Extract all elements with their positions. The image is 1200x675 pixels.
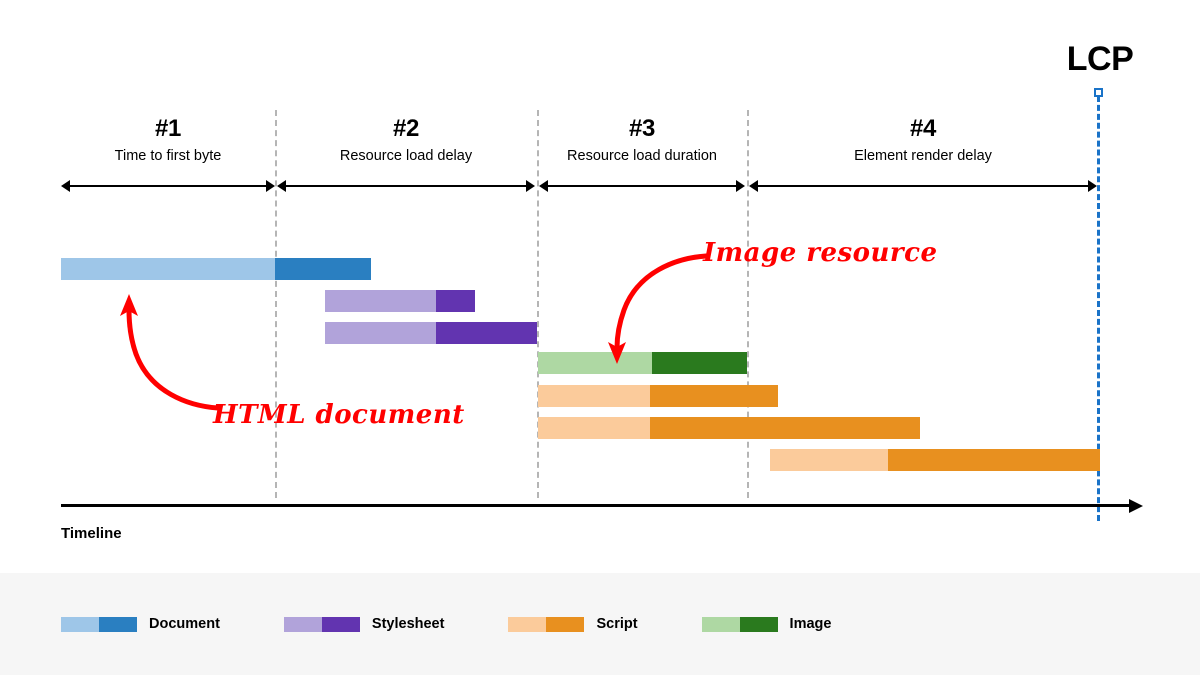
phase-1-name: Time to first byte [61, 148, 275, 165]
legend-item-stylesheet: Stylesheet [284, 616, 445, 632]
phase-2-arrow [277, 180, 535, 192]
phase-4-arrow [749, 180, 1097, 192]
legend-label-document: Document [149, 616, 220, 632]
phase-3: #3 Resource load duration [539, 116, 745, 192]
script-bar-3-light-segment [770, 449, 888, 471]
phase-4-name: Element render delay [749, 148, 1097, 165]
stylesheet-bar-1 [325, 290, 475, 312]
phase-2-number: #2 [277, 116, 535, 142]
phase-1-number: #1 [61, 116, 275, 142]
script-bar-1-dark-segment [650, 385, 778, 407]
legend-swatch-document [61, 617, 137, 632]
html-document-arrow-icon [110, 288, 230, 413]
stylesheet-bar-1-light-segment [325, 290, 436, 312]
script-bar-2-light-segment [538, 417, 650, 439]
script-bar-1-light-segment [538, 385, 650, 407]
legend: DocumentStylesheetScriptImage [61, 616, 895, 632]
script-bar-1 [538, 385, 778, 407]
lcp-waterfall-diagram: LCP #1 Time to first byte #2 Resource lo… [0, 0, 1200, 675]
plot-area: LCP #1 Time to first byte #2 Resource lo… [0, 0, 1200, 573]
legend-label-script: Script [596, 616, 637, 632]
phase-2-name: Resource load delay [277, 148, 535, 165]
stylesheet-bar-2 [325, 322, 537, 344]
image-bar-dark-segment [652, 352, 747, 374]
stylesheet-bar-2-dark-segment [436, 322, 537, 344]
script-bar-3-dark-segment [888, 449, 1100, 471]
legend-footer: DocumentStylesheetScriptImage [0, 573, 1200, 675]
image-resource-annotation: Image resource [703, 238, 938, 268]
legend-swatch-stylesheet [284, 617, 360, 632]
phase-4: #4 Element render delay [749, 116, 1097, 192]
html-document-annotation: HTML document [213, 400, 465, 430]
timeline-axis-arrow-icon [1129, 499, 1143, 513]
document-bar [61, 258, 371, 280]
lcp-label: LCP [1045, 42, 1155, 76]
script-bar-3 [770, 449, 1100, 471]
phase-1-arrow [61, 180, 275, 192]
phase-3-name: Resource load duration [539, 148, 745, 165]
phase-2: #2 Resource load delay [277, 116, 535, 192]
image-resource-arrow-icon [592, 242, 712, 367]
timeline-axis-label: Timeline [61, 525, 122, 542]
script-bar-2-dark-segment [650, 417, 920, 439]
stylesheet-bar-2-light-segment [325, 322, 436, 344]
legend-item-script: Script [508, 616, 637, 632]
legend-item-image: Image [702, 616, 832, 632]
document-bar-light-segment [61, 258, 275, 280]
legend-swatch-image [702, 617, 778, 632]
script-bar-2 [538, 417, 920, 439]
image-bar-light-segment [538, 352, 652, 374]
timeline-axis [61, 504, 1129, 507]
legend-swatch-script [508, 617, 584, 632]
legend-label-stylesheet: Stylesheet [372, 616, 445, 632]
stylesheet-bar-1-dark-segment [436, 290, 475, 312]
legend-label-image: Image [790, 616, 832, 632]
image-bar [538, 352, 747, 374]
legend-item-document: Document [61, 616, 220, 632]
phase-3-arrow [539, 180, 745, 192]
phase-4-number: #4 [749, 116, 1097, 142]
phase-3-number: #3 [539, 116, 745, 142]
phase-1: #1 Time to first byte [61, 116, 275, 192]
document-bar-dark-segment [275, 258, 371, 280]
